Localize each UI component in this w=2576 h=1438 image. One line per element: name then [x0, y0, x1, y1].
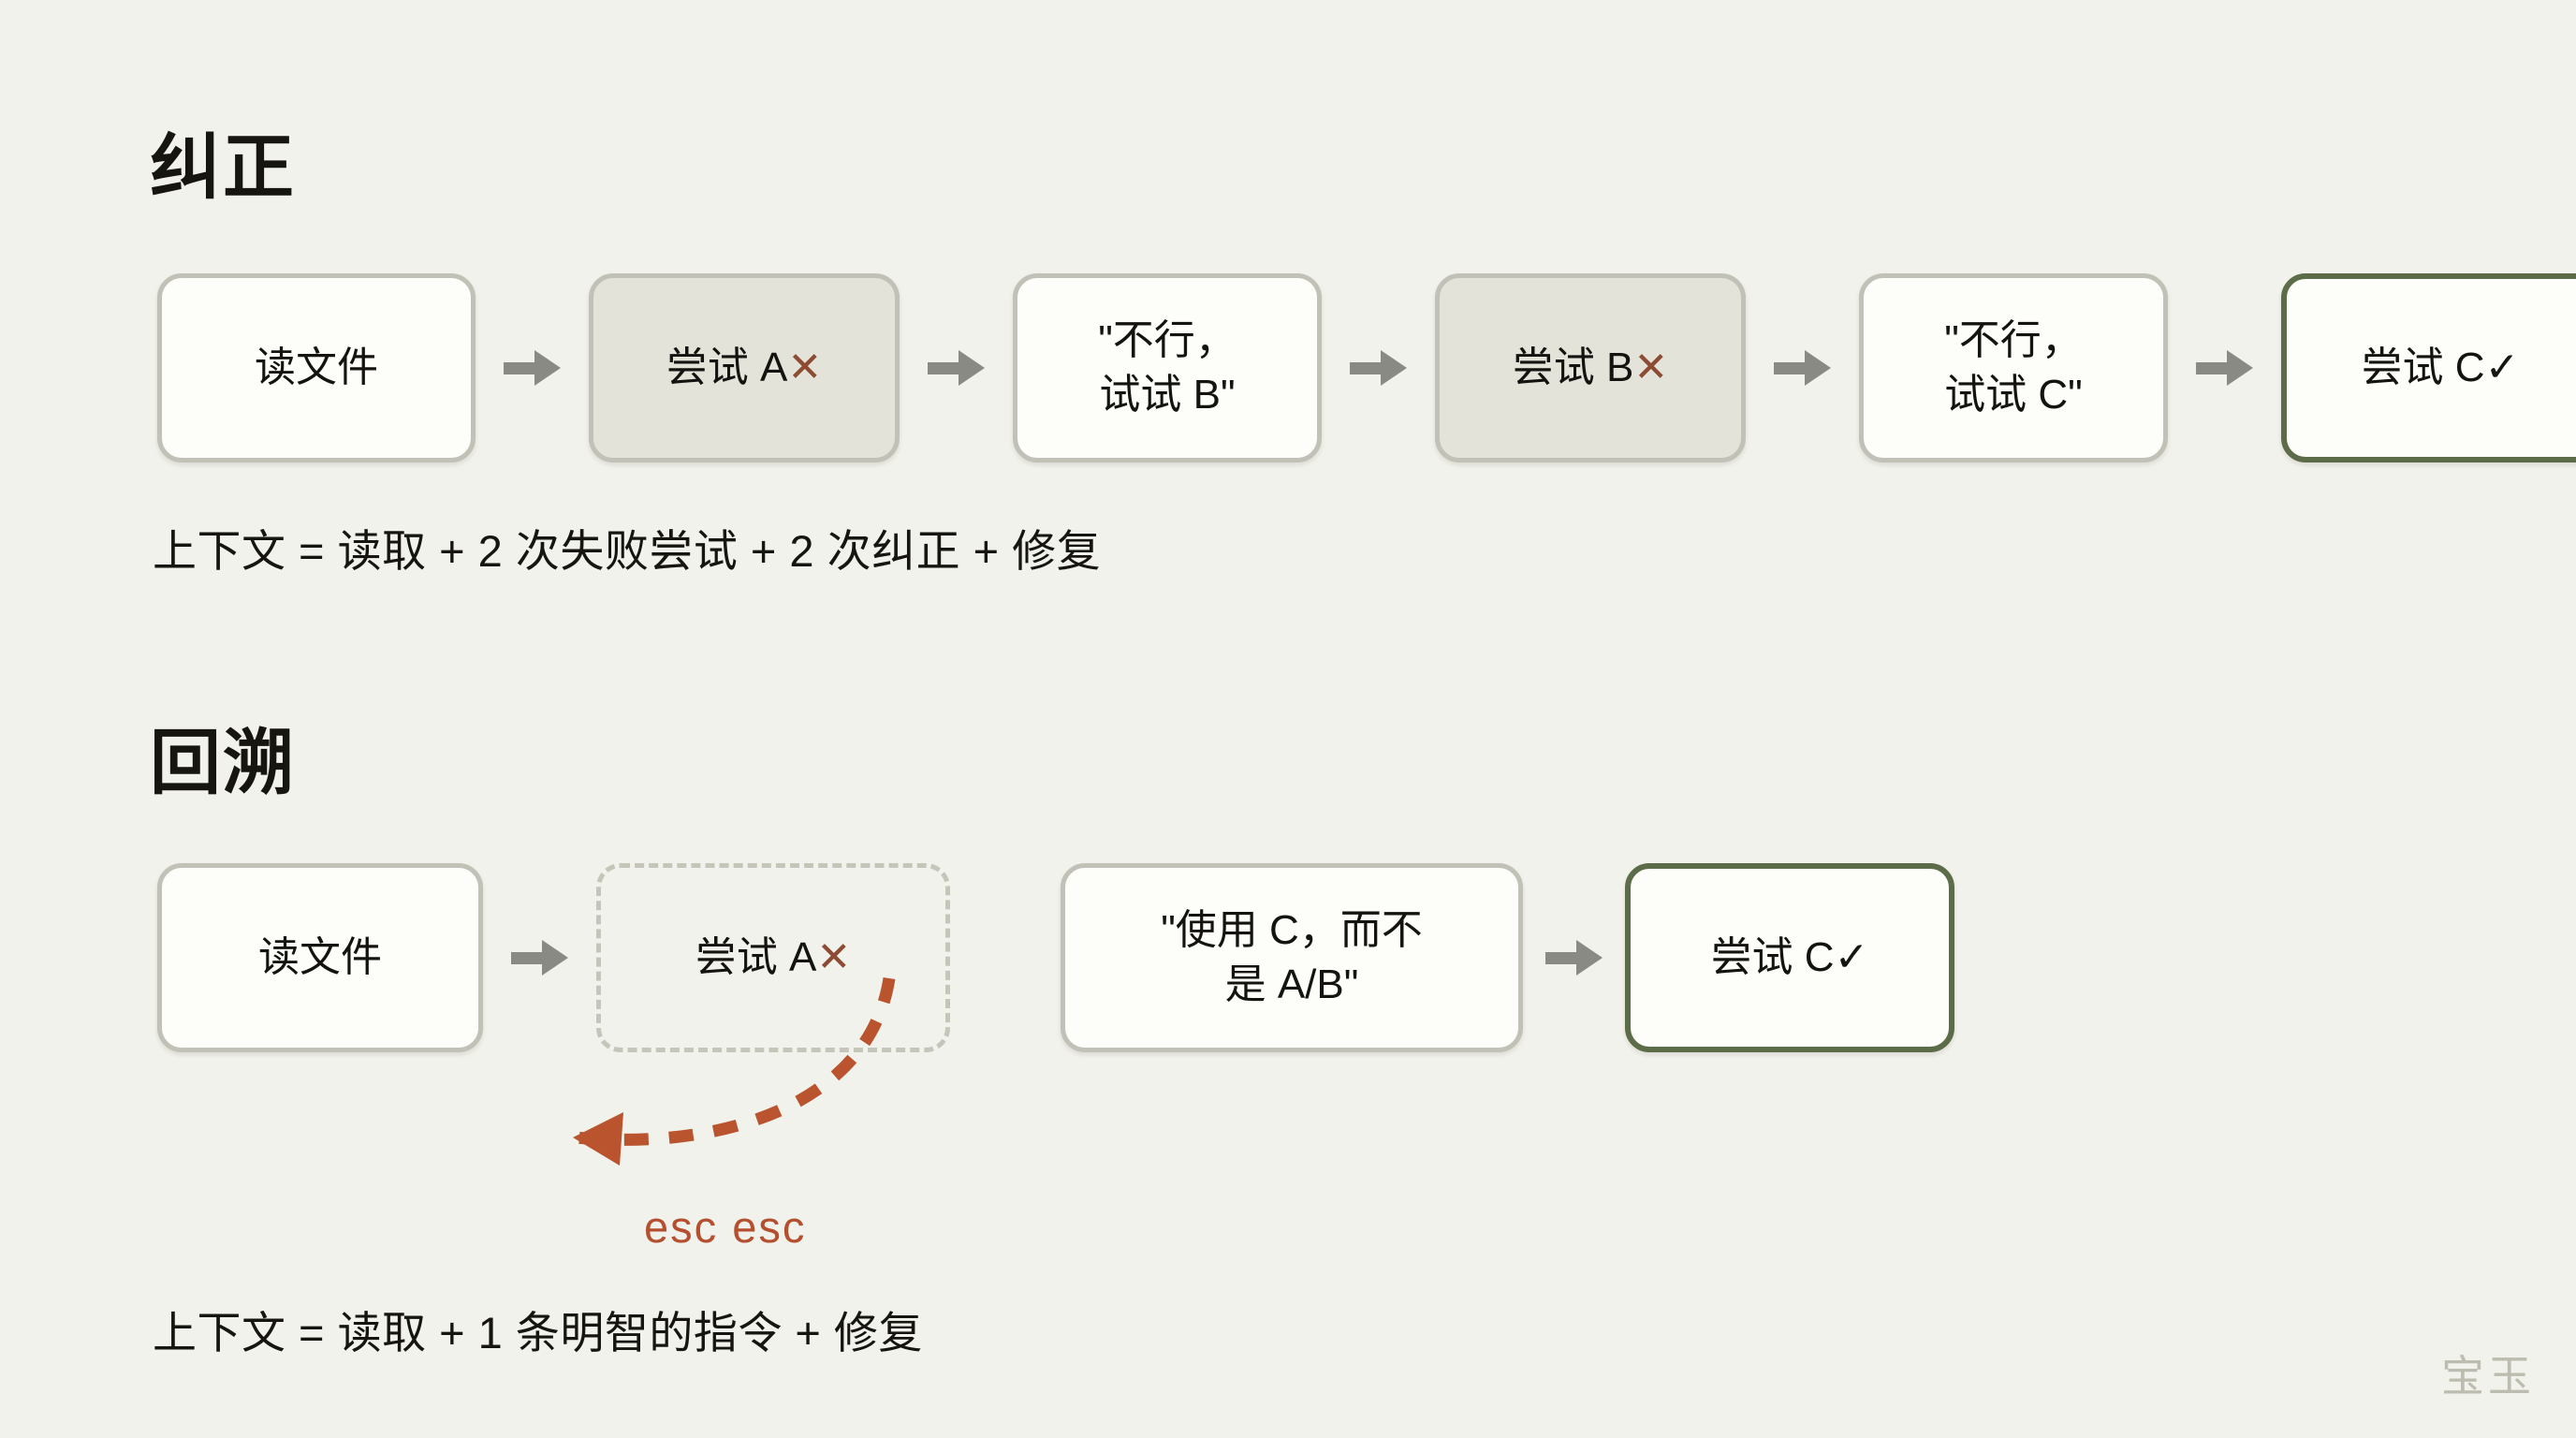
node-try-c-1: 尝试 C ✓ [2281, 273, 2576, 462]
arrow-quote-b-to-try-b [1350, 350, 1407, 386]
arrow-head-icon [1576, 940, 1603, 976]
flow-row-correction: 读文件 尝试 A ✕ "不行， 试试 B" 尝试 B ✕ [157, 273, 2576, 462]
node-label: "不行， 试试 B" [1098, 314, 1237, 422]
node-read-file-2: 读文件 [157, 863, 483, 1052]
arrow-shaft [2196, 362, 2228, 374]
node-label: "不行， 试试 C" [1944, 314, 2083, 422]
arrow-head-icon [542, 940, 568, 976]
arrow-head-icon [959, 350, 985, 386]
arrow-read-to-try-a-2 [511, 940, 568, 976]
arrow-head-icon [1805, 350, 1831, 386]
arrow-shaft [928, 362, 959, 374]
arrow-shaft [504, 362, 535, 374]
arrow-shaft [511, 952, 543, 964]
esc-key-label: esc esc [644, 1201, 806, 1253]
backtrack-arrow-head-icon [573, 1112, 623, 1166]
arrow-shaft [1350, 362, 1382, 374]
node-label: 尝试 B [1513, 341, 1634, 395]
flow-row-backtrack: 读文件 尝试 A ✕ "使用 C，而不 是 A/B" 尝试 C ✓ [157, 863, 1954, 1052]
success-mark-icon: ✓ [2485, 341, 2520, 395]
diagram-canvas: 纠正 读文件 尝试 A ✕ "不行， 试试 B" 尝试 [0, 0, 2576, 1438]
arrow-head-icon [2227, 350, 2253, 386]
success-mark-icon: ✓ [1835, 931, 1869, 985]
node-try-b-1: 尝试 B ✕ [1435, 273, 1746, 462]
node-label: "使用 C，而不 是 A/B" [1161, 903, 1423, 1012]
arrow-shaft [1774, 362, 1806, 374]
section-title-backtrack: 回溯 [150, 728, 296, 800]
node-label: 尝试 C [2362, 341, 2485, 395]
watermark: 宝玉 [2441, 1343, 2535, 1404]
node-try-c-2: 尝试 C ✓ [1625, 863, 1954, 1052]
node-try-a-1: 尝试 A ✕ [589, 273, 900, 462]
arrow-shaft [1545, 952, 1577, 964]
node-quote-try-c: "不行， 试试 C" [1859, 273, 2168, 462]
fail-mark-icon: ✕ [787, 341, 822, 395]
arrow-quote-c-to-try-c [2196, 350, 2253, 386]
arrow-read-to-try-a [504, 350, 561, 386]
section-title-correction: 纠正 [150, 133, 296, 204]
arrow-instruction-to-try-c [1545, 940, 1603, 976]
caption-backtrack: 上下文 = 读取 + 1 条明智的指令 + 修复 [153, 1297, 923, 1361]
arrow-head-icon [534, 350, 561, 386]
arrow-try-b-to-quote-c [1774, 350, 1831, 386]
fail-mark-icon: ✕ [816, 931, 851, 985]
arrow-head-icon [1381, 350, 1407, 386]
caption-correction: 上下文 = 读取 + 2 次失败尝试 + 2 次纠正 + 修复 [153, 515, 1101, 580]
node-quote-try-b: "不行， 试试 B" [1013, 273, 1322, 462]
node-try-a-discarded: 尝试 A ✕ [596, 863, 950, 1052]
node-label: 读文件 [258, 931, 382, 985]
node-label: 尝试 C [1711, 931, 1835, 985]
node-read-file-1: 读文件 [157, 273, 476, 462]
fail-mark-icon: ✕ [1633, 341, 1668, 395]
node-label: 尝试 A [666, 341, 788, 395]
node-instruction-use-c: "使用 C，而不 是 A/B" [1061, 863, 1523, 1052]
node-label: 尝试 A [695, 931, 817, 985]
arrow-try-a-to-quote-b [928, 350, 985, 386]
node-label: 读文件 [255, 341, 378, 395]
